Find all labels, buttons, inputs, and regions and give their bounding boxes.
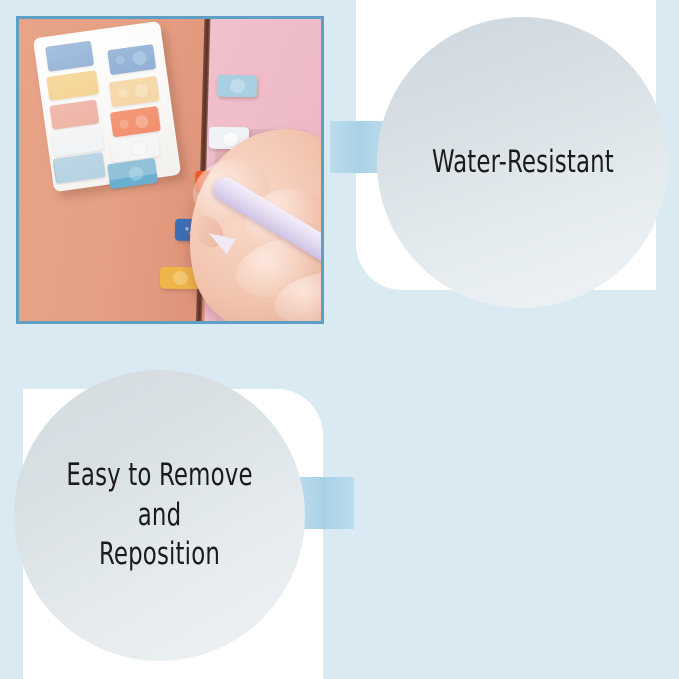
panel-top-left [0, 0, 340, 340]
tab-dome-large-icon [129, 140, 148, 157]
tab-dome-large-icon [134, 83, 149, 98]
badge-water-resistant: Water-Resistant [377, 17, 668, 308]
tab-yellow-2 [109, 76, 160, 107]
tab-orange-2 [110, 106, 161, 137]
page-tab-lightblue [217, 75, 257, 98]
badge-water-resistant-label: Water-Resistant [418, 144, 626, 181]
tab-white-1 [51, 127, 104, 157]
tab-blue-1 [45, 41, 94, 72]
infographic-canvas: Water-Resistant Easy to Remove and Repos… [0, 0, 679, 679]
tab-blue-2 [107, 44, 156, 75]
tab-white-2 [110, 134, 161, 162]
photo-top-left [16, 16, 324, 324]
tab-dome-small-icon [115, 55, 125, 65]
tab-sheet-card [33, 21, 181, 192]
tab-yellow-1 [46, 70, 99, 101]
badge-easy-remove: Easy to Remove and Reposition [14, 370, 305, 661]
panel-bottom-right [340, 340, 679, 679]
tab-dome-icon [230, 79, 245, 93]
tab-dome-large-icon [132, 50, 148, 66]
tab-dome-large-icon [128, 166, 145, 182]
photo-top-left-scene [19, 19, 321, 321]
tab-dome-small-icon [118, 88, 128, 98]
tab-dome-small-icon [119, 119, 129, 129]
tab-lightblue-1 [53, 152, 106, 184]
tab-salmon-1 [49, 99, 99, 129]
tab-dome-large-icon [135, 114, 150, 129]
badge-easy-remove-label: Easy to Remove and Reposition [40, 456, 279, 575]
tab-dome-icon [173, 271, 188, 285]
